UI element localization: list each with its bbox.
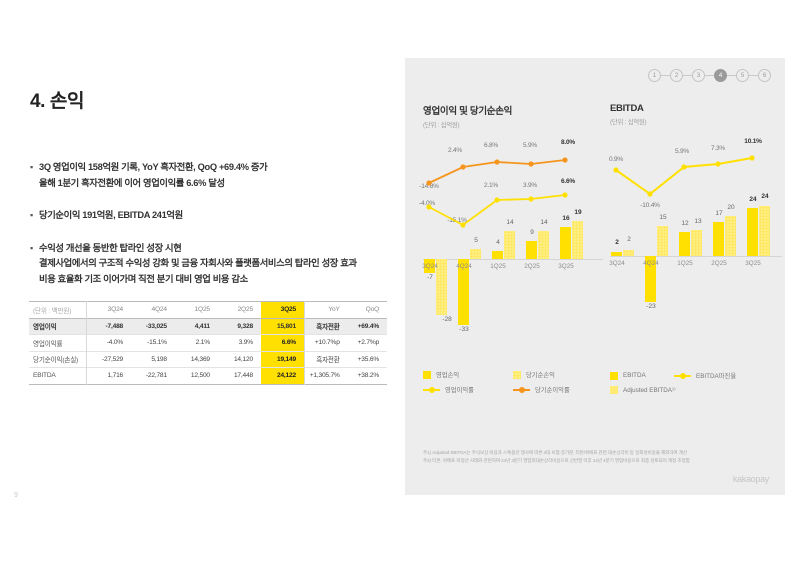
legend-swatch-light-icon	[513, 371, 521, 379]
bar-ebitda-3q24	[611, 252, 622, 256]
table-col-yoy: YoY	[304, 302, 347, 319]
cell-highlight: 19,149	[261, 351, 305, 368]
legend-line-yellow-icon	[423, 386, 440, 394]
legend-net-profit: 당기순손익	[513, 370, 555, 379]
pager-dot-6[interactable]: 6	[758, 69, 771, 82]
cell: 14,120	[218, 351, 261, 368]
legend-swatch-solid-icon	[610, 372, 618, 380]
legend-ebitda-margin: EBITDA마진율	[674, 371, 736, 380]
pager-dot-4-active[interactable]: 4	[714, 69, 727, 82]
cell: 1,716	[87, 368, 131, 385]
row-label: 영업이익률	[29, 335, 87, 352]
bar-label-net-3q25: 19	[567, 209, 589, 216]
legend-swatch-light-icon	[610, 386, 618, 394]
margin-label-2q25: 7.3%	[703, 145, 733, 152]
bar-ebitda-3q25	[747, 208, 758, 256]
cell-qoq: +2.7%p	[348, 335, 387, 352]
op-margin-label-2q25: 3.9%	[515, 182, 545, 189]
net-margin-line	[429, 160, 565, 183]
bar-label-adj-1q25: 13	[687, 218, 709, 225]
legend-label: Adjusted EBITDA¹⁾	[623, 387, 676, 394]
legend-adjusted-ebitda: Adjusted EBITDA¹⁾	[610, 386, 676, 394]
bullet-line: 올해 1분기 흑자전환에 이어 영업이익률 6.6% 달성	[39, 176, 267, 192]
legend-label: 당기순손익	[526, 370, 555, 379]
table-col-qoq: QoQ	[348, 302, 387, 319]
bar-op-2q25	[526, 241, 537, 259]
x-tick-2q25: 2Q25	[517, 263, 547, 270]
bar-net-4q24	[470, 249, 481, 259]
bar-label-op-3q25: 16	[555, 215, 577, 222]
bar-label-net-1q25: 14	[499, 219, 521, 226]
table-header: (단위 : 백만원) 3Q24 4Q24 1Q25 2Q25 3Q25 YoY …	[29, 302, 387, 319]
x-axis	[423, 259, 603, 260]
list-item: ▪ 수익성 개선을 동반한 탑라인 성장 시현 결제사업에서의 구조적 수익성 …	[30, 241, 385, 288]
margin-label-1q25: 5.9%	[667, 148, 697, 155]
table-col-1q25: 1Q25	[175, 302, 218, 319]
x-tick-3q25: 3Q25	[738, 260, 768, 267]
row-label: 영업이익	[29, 318, 87, 335]
margin-label-3q25: 10.1%	[738, 138, 768, 145]
chart-title: EBITDA	[610, 103, 782, 114]
chart-panel: 1 2 3 4 5 6 영업이익 및 당기순손익 (단위 : 십억원) -14.…	[405, 58, 785, 495]
list-item: ▪ 3Q 영업이익 158억원 기록, YoY 흑자전환, QoQ +69.4%…	[30, 160, 385, 191]
bullet-text: 3Q 영업이익 158억원 기록, YoY 흑자전환, QoQ +69.4% 증…	[39, 160, 267, 191]
bar-label-op-4q24: -33	[453, 326, 475, 333]
bar-label-net-2q25: 14	[533, 219, 555, 226]
pager[interactable]: 1 2 3 4 5 6	[648, 69, 771, 82]
chart-plot-area: -14.8% 2.4% 6.8% 5.9% 8.0% -4.0% -15.1% …	[423, 135, 603, 365]
x-tick-4q24: 4Q24	[449, 263, 479, 270]
chart-plot-area: 0.9% -10.4% 5.9% 7.3% 10.1% 2 2 -23 15	[610, 132, 782, 362]
table-row: 영업이익 -7,488 -33,025 4,411 9,328 15,801 흑…	[29, 318, 387, 335]
op-margin-label-4q24: -15.1%	[442, 217, 472, 224]
cell: -15.1%	[131, 335, 175, 352]
legend-op-margin: 영업이익률	[423, 385, 513, 394]
pager-dot-3[interactable]: 3	[692, 69, 705, 82]
bullet-line: 당기순이익 191억원, EBITDA 241억원	[39, 208, 183, 224]
bar-label-net-3q24: -28	[436, 316, 458, 323]
legend-label: 영업이익률	[445, 385, 474, 394]
bar-ebitda-2q25	[713, 222, 724, 256]
bullet-text: 수익성 개선을 동반한 탑라인 성장 시현 결제사업에서의 구조적 수익성 강화…	[39, 241, 357, 288]
cell: -27,529	[87, 351, 131, 368]
table-row: 당기순이익(손실) -27,529 5,198 14,369 14,120 19…	[29, 351, 387, 368]
net-margin-label-3q24: -14.8%	[414, 183, 444, 190]
table-col-4q24: 4Q24	[131, 302, 175, 319]
list-item: ▪ 당기순이익 191억원, EBITDA 241억원	[30, 208, 385, 224]
bar-net-3q25	[572, 221, 583, 259]
pager-connector	[749, 75, 758, 76]
net-margin-label-1q25: 6.8%	[476, 142, 506, 149]
legend-line-yellow-icon	[674, 372, 691, 380]
x-tick-3q24: 3Q24	[415, 263, 445, 270]
chart-legend: EBITDA EBITDA마진율 Adjusted EBITDA¹⁾	[610, 371, 782, 400]
bullet-text: 당기순이익 191억원, EBITDA 241억원	[39, 208, 183, 224]
net-margin-label-3q25: 8.0%	[553, 139, 583, 146]
x-tick-3q24: 3Q24	[602, 260, 632, 267]
cell: -4.0%	[87, 335, 131, 352]
chart-unit: (단위 : 십억원)	[610, 117, 782, 126]
bullet-list: ▪ 3Q 영업이익 158억원 기록, YoY 흑자전환, QoQ +69.4%…	[30, 160, 385, 304]
page-title: 4. 손익	[30, 86, 84, 113]
cell: -7,488	[87, 318, 131, 335]
table-unit-label: (단위 : 백만원)	[29, 302, 87, 319]
cell-highlight: 6.6%	[261, 335, 305, 352]
legend-swatch-solid-icon	[423, 371, 431, 379]
x-tick-1q25: 1Q25	[483, 263, 513, 270]
table-col-3q24: 3Q24	[87, 302, 131, 319]
bar-label-adj-2q25: 20	[720, 204, 742, 211]
net-margin-label-2q25: 5.9%	[515, 142, 545, 149]
brand-logo: kakaopay	[733, 474, 769, 484]
cell: -33,025	[131, 318, 175, 335]
bar-ebitda-1q25	[679, 232, 690, 256]
pager-dot-1[interactable]: 1	[648, 69, 661, 82]
cell-highlight: 24,122	[261, 368, 305, 385]
slide-left-column: 4. 손익 ▪ 3Q 영업이익 158억원 기록, YoY 흑자전환, QoQ …	[0, 0, 405, 566]
row-label: EBITDA	[29, 368, 87, 385]
cell-yoy: +1,305.7%	[304, 368, 347, 385]
op-margin-label-1q25: 2.1%	[476, 182, 506, 189]
footnote-line-2: 주2) 티몬, 위메프 미정산 사태와 관련하여 24년 3분기 영업외대손상각…	[423, 457, 773, 465]
footnote: 주1) Adjusted EBITDA는 주식보상 비용과 스톡옵션 행사에 따…	[423, 449, 773, 465]
financial-table: (단위 : 백만원) 3Q24 4Q24 1Q25 2Q25 3Q25 YoY …	[29, 301, 387, 385]
x-tick-3q25: 3Q25	[551, 263, 581, 270]
chart-title: 영업이익 및 당기순손익	[423, 103, 603, 117]
pager-dot-2[interactable]: 2	[670, 69, 683, 82]
bullet-dot: ▪	[30, 160, 39, 191]
cell: 14,369	[175, 351, 218, 368]
table-col-2q25: 2Q25	[218, 302, 261, 319]
footnote-line-1: 주1) Adjusted EBITDA는 주식보상 비용과 스톡옵션 행사에 따…	[423, 449, 773, 457]
cell: -22,781	[131, 368, 175, 385]
page-number: 9	[14, 492, 18, 499]
pager-connector	[705, 75, 714, 76]
bar-label-op-2q25: 9	[521, 229, 543, 236]
legend-label: 당기순이익률	[535, 385, 570, 394]
legend-ebitda: EBITDA	[610, 372, 674, 380]
legend-line-orange-icon	[513, 386, 530, 394]
table-row: 영업이익률 -4.0% -15.1% 2.1% 3.9% 6.6% +10.7%…	[29, 335, 387, 352]
bar-op-3q25	[560, 227, 571, 259]
cell: 9,328	[218, 318, 261, 335]
legend-label: EBITDA마진율	[696, 371, 736, 380]
bullet-line: 수익성 개선을 동반한 탑라인 성장 시현	[39, 241, 357, 257]
bar-label-ebitda-4q24: -23	[640, 303, 662, 310]
op-margin-label-3q24: -4.0%	[412, 200, 442, 207]
x-tick-4q24: 4Q24	[636, 260, 666, 267]
cell: 3.9%	[218, 335, 261, 352]
row-label: 당기순이익(손실)	[29, 351, 87, 368]
table-row: EBITDA 1,716 -22,781 12,500 17,448 24,12…	[29, 368, 387, 385]
x-axis	[610, 256, 782, 257]
pager-dot-5[interactable]: 5	[736, 69, 749, 82]
bullet-line: 비용 효율화 기조 이어가며 직전 분기 대비 영업 비용 감소	[39, 272, 357, 288]
table-header-row: (단위 : 백만원) 3Q24 4Q24 1Q25 2Q25 3Q25 YoY …	[29, 302, 387, 319]
chart-unit: (단위 : 십억원)	[423, 120, 603, 129]
x-tick-2q25: 2Q25	[704, 260, 734, 267]
ebitda-chart: EBITDA (단위 : 십억원) 0.9% -10.4% 5.9% 7.3% …	[610, 103, 782, 398]
cell-highlight: 15,801	[261, 318, 305, 335]
cell: 5,198	[131, 351, 175, 368]
bar-adj-4q24	[657, 226, 668, 256]
bullet-dot: ▪	[30, 241, 39, 288]
cell-yoy: +10.7%p	[304, 335, 347, 352]
bullet-line: 3Q 영업이익 158억원 기록, YoY 흑자전환, QoQ +69.4% 증…	[39, 160, 267, 176]
pager-connector	[683, 75, 692, 76]
profit-chart: 영업이익 및 당기순손익 (단위 : 십억원) -14.8% 2.4% 6.8%…	[423, 103, 603, 398]
cell-yoy: 흑자전환	[304, 318, 347, 335]
bullet-line: 결제사업에서의 구조적 수익성 강화 및 금융 자회사와 플랫폼서비스의 탑라인…	[39, 256, 357, 272]
cell-qoq: +35.6%	[348, 351, 387, 368]
bar-label-op-3q24: -7	[419, 274, 441, 281]
bar-op-1q25	[492, 251, 503, 259]
margin-label-4q24: -10.4%	[635, 202, 665, 209]
bar-adj-3q24	[623, 250, 634, 256]
op-margin-label-3q25: 6.6%	[553, 178, 583, 185]
table-body: 영업이익 -7,488 -33,025 4,411 9,328 15,801 흑…	[29, 318, 387, 384]
legend-op-profit: 영업손익	[423, 370, 513, 379]
bar-label-net-4q24: 5	[465, 237, 487, 244]
cell-qoq: +69.4%	[348, 318, 387, 335]
bar-adj-3q25	[759, 206, 770, 256]
table-col-3q25: 3Q25	[261, 302, 305, 319]
cell-yoy: 흑자전환	[304, 351, 347, 368]
x-tick-1q25: 1Q25	[670, 260, 700, 267]
bullet-dot: ▪	[30, 208, 39, 224]
pager-connector	[727, 75, 736, 76]
cell: 12,500	[175, 368, 218, 385]
bar-label-adj-4q24: 15	[652, 214, 674, 221]
cell: 17,448	[218, 368, 261, 385]
chart-legend: 영업손익 당기순손익 영업이익률 당기순이익률	[423, 370, 603, 400]
bar-label-ebitda-2q25: 17	[708, 210, 730, 217]
bar-label-adj-3q25: 24	[754, 193, 776, 200]
cell-qoq: +38.2%	[348, 368, 387, 385]
margin-label-3q24: 0.9%	[601, 156, 631, 163]
bar-label-op-1q25: 4	[487, 239, 509, 246]
net-margin-label-4q24: 2.4%	[440, 147, 470, 154]
legend-label: EBITDA	[623, 372, 646, 379]
bar-label-adj-3q24: 2	[618, 236, 640, 243]
pager-connector	[661, 75, 670, 76]
ebitda-margin-line	[616, 158, 752, 194]
cell: 2.1%	[175, 335, 218, 352]
bar-adj-1q25	[691, 230, 702, 256]
legend-net-margin: 당기순이익률	[513, 385, 570, 394]
legend-label: 영업손익	[436, 370, 459, 379]
cell: 4,411	[175, 318, 218, 335]
bar-adj-2q25	[725, 216, 736, 256]
